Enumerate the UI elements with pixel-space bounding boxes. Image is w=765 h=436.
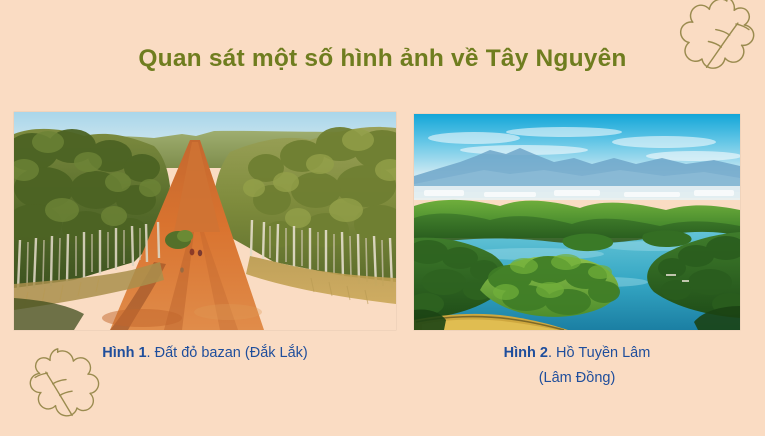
figure-2-caption-line2: (Lâm Đồng) (414, 366, 740, 391)
figure-2-caption-text: . Hồ Tuyền Lâm (548, 345, 650, 361)
photo-dat-do-bazan (14, 112, 396, 330)
figure-2-image (414, 114, 740, 330)
figure-1-caption: Hình 1. Đất đỏ bazan (Đắk Lắk) (14, 341, 396, 366)
photo-ho-tuyen-lam (414, 114, 740, 330)
photo-dat-do-bazan-svg (14, 112, 396, 330)
slide-canvas: Quan sát một số hình ảnh về Tây Nguyên (0, 0, 765, 430)
figure-1-caption-text: . Đất đỏ bazan (Đắk Lắk) (147, 345, 308, 361)
photo-ho-tuyen-lam-svg (414, 114, 740, 330)
figure-2-caption: Hình 2. Hồ Tuyền Lâm (Lâm Đồng) (414, 341, 740, 392)
figure-1-image (14, 112, 396, 330)
figure-1-caption-label: Hình 1 (102, 345, 146, 361)
page-title: Quan sát một số hình ảnh về Tây Nguyên (0, 45, 765, 73)
figure-2-caption-label: Hình 2 (504, 345, 548, 361)
